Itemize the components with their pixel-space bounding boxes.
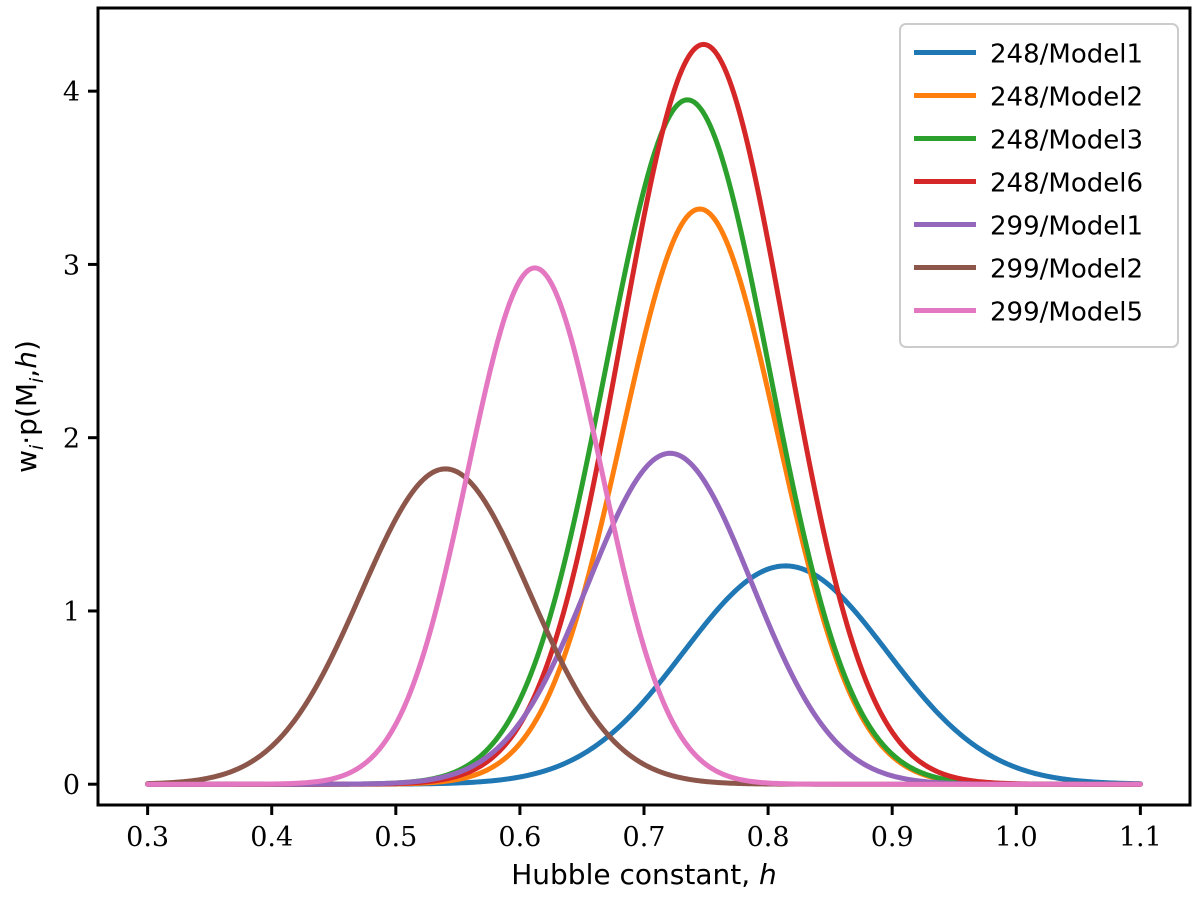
- x-tick-label: 0.6: [498, 822, 541, 853]
- y-axis-ticks: 01234: [63, 77, 98, 801]
- axis-labels: Hubble constant, hwi·p(Mi,h): [10, 340, 777, 891]
- x-tick-label: 1.0: [995, 822, 1038, 853]
- x-axis-label: Hubble constant, h: [511, 858, 777, 891]
- x-axis-ticks: 0.30.40.50.60.70.80.91.01.1: [126, 805, 1162, 853]
- curve-299-model1: [148, 453, 1141, 784]
- legend-label-299-model5: 299/Model5: [990, 298, 1143, 328]
- legend-label-248-model3: 248/Model3: [990, 126, 1143, 156]
- legend-label-299-model1: 299/Model1: [990, 212, 1143, 242]
- x-tick-label: 0.9: [871, 822, 914, 853]
- y-tick-label: 3: [63, 250, 80, 281]
- legend-label-248-model2: 248/Model2: [990, 83, 1143, 113]
- chart-legend[interactable]: 248/Model1248/Model2248/Model3248/Model6…: [900, 24, 1178, 347]
- x-tick-label: 0.7: [623, 822, 666, 853]
- x-tick-label: 0.3: [126, 822, 169, 853]
- legend-label-248-model6: 248/Model6: [990, 169, 1143, 199]
- x-tick-label: 1.1: [1119, 822, 1162, 853]
- y-axis-label: wi·p(Mi,h): [10, 340, 48, 473]
- curve-299-model2: [148, 469, 1141, 784]
- y-tick-label: 4: [63, 77, 80, 108]
- chart-figure: 0.30.40.50.60.70.80.91.01.1 01234 Hubble…: [0, 0, 1200, 902]
- legend-label-299-model2: 299/Model2: [990, 255, 1143, 285]
- x-tick-label: 0.5: [374, 822, 417, 853]
- x-tick-label: 0.8: [747, 822, 790, 853]
- curve-248-model1: [148, 566, 1141, 784]
- y-tick-label: 2: [63, 424, 80, 455]
- plot-canvas: 0.30.40.50.60.70.80.91.01.1 01234 Hubble…: [0, 0, 1200, 902]
- legend-label-248-model1: 248/Model1: [990, 40, 1143, 70]
- y-tick-label: 0: [63, 770, 80, 801]
- x-tick-label: 0.4: [250, 822, 293, 853]
- y-tick-label: 1: [63, 597, 80, 628]
